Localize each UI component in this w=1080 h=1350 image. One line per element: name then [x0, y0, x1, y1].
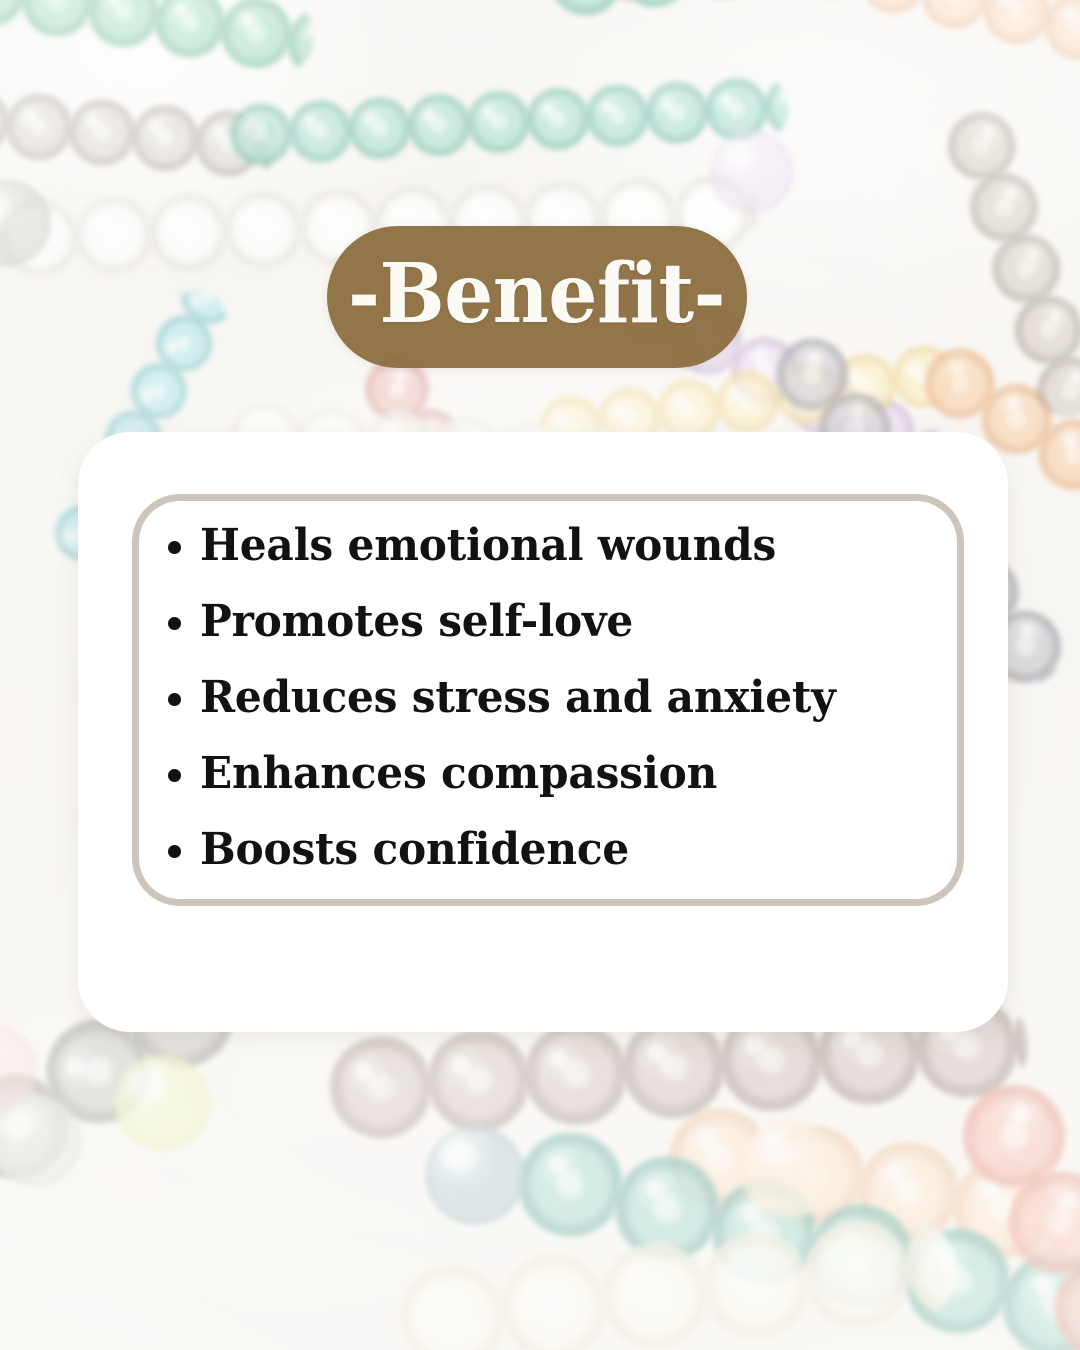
- list-item: Reduces stress and anxiety: [168, 660, 928, 736]
- list-item: Heals emotional wounds: [168, 508, 928, 584]
- title-badge: -Benefit-: [327, 226, 747, 368]
- loose-bead-bluegrey: [425, 1125, 525, 1225]
- bullet-icon: [168, 541, 181, 554]
- loose-bead-lemon: [115, 1055, 211, 1151]
- list-item: Promotes self-love: [168, 584, 928, 660]
- loose-bead-lavender: [710, 130, 794, 214]
- list-item: Boosts confidence: [168, 812, 928, 888]
- bullet-icon: [168, 769, 181, 782]
- benefit-label: Enhances compassion: [200, 752, 717, 796]
- bullet-icon: [168, 693, 181, 706]
- bullet-icon: [168, 617, 181, 630]
- benefit-list: Heals emotional wounds Promotes self-lov…: [168, 508, 928, 888]
- benefit-label: Reduces stress and anxiety: [200, 676, 836, 720]
- benefit-label: Heals emotional wounds: [200, 524, 776, 568]
- loose-bead-sand: [740, 1120, 838, 1218]
- benefit-label: Boosts confidence: [200, 828, 629, 872]
- benefit-label: Promotes self-love: [200, 600, 633, 644]
- benefit-card: Heals emotional wounds Promotes self-lov…: [78, 432, 1008, 1032]
- bullet-icon: [168, 845, 181, 858]
- list-item: Enhances compassion: [168, 736, 928, 812]
- benefit-poster: -Benefit- Heals emotional wounds Promote…: [0, 0, 1080, 1350]
- page-title: -Benefit-: [348, 253, 725, 335]
